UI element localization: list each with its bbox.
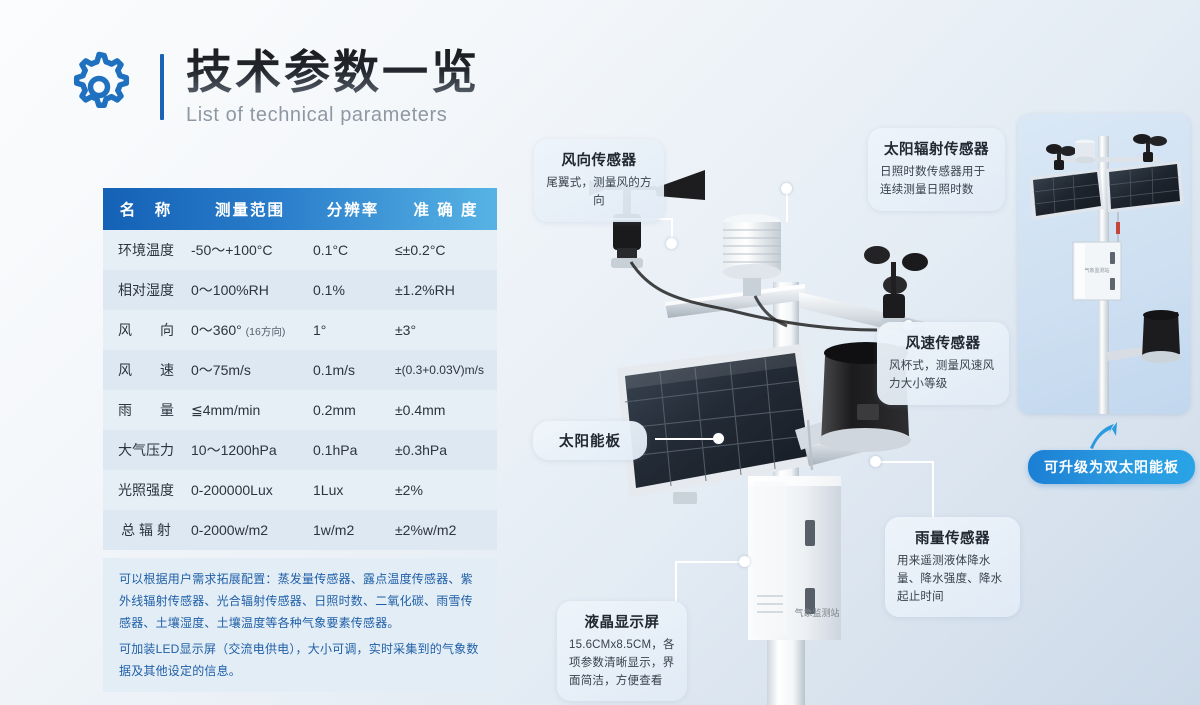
- callout-title: 太阳辐射传感器: [880, 138, 993, 159]
- cell-range: -50〜+100°C: [187, 230, 309, 270]
- cell-range: 0〜100%RH: [187, 270, 309, 310]
- cell-accuracy: ±3°: [393, 310, 497, 350]
- callout-title: 风向传感器: [546, 149, 652, 170]
- callout-wind-speed[interactable]: 风速传感器 风杯式，测量风速风力大小等级: [877, 322, 1009, 405]
- cell-accuracy: ±2%: [393, 470, 497, 510]
- note-led-display: 可加装LED显示屏（交流电供电），大小可调，实时采集到的气象数据及其他设定的信息…: [103, 628, 497, 692]
- cell-name: 风 速: [103, 350, 187, 390]
- svg-text:气象监测站: 气象监测站: [1084, 267, 1109, 274]
- cell-name: 相对湿度: [103, 270, 187, 310]
- cell-name: 光照强度: [103, 470, 187, 510]
- cell-resolution: 0.1°C: [309, 230, 393, 270]
- cell-accuracy: ±2%w/m2: [393, 510, 497, 550]
- table-header-row: 名 称 测量范围 分辨率 准 确 度: [103, 188, 497, 230]
- cell-accuracy: ±(0.3+0.03V)m/s: [393, 350, 497, 390]
- column-header-name: 名 称: [103, 188, 187, 230]
- column-header-range: 测量范围: [187, 188, 309, 230]
- connector-line: [875, 461, 933, 463]
- cell-range: 0-2000w/m2: [187, 510, 309, 550]
- callout-solar-radiation[interactable]: 太阳辐射传感器 日照时数传感器用于连续测量日照时数: [868, 128, 1005, 211]
- table-row: 风 向 0〜360° (16方向) 1° ±3°: [103, 310, 497, 350]
- connector-dot: [739, 556, 750, 567]
- cell-range-value: -50〜+100°C: [191, 242, 272, 258]
- page-title: 技术参数一览: [186, 48, 480, 98]
- callout-solar-panel[interactable]: 太阳能板: [533, 421, 647, 460]
- connector-dot: [666, 238, 677, 249]
- callout-desc: 尾翼式，测量风的方向: [546, 175, 652, 211]
- connector-line: [655, 438, 715, 440]
- cell-range: ≦4mm/min: [187, 390, 309, 430]
- column-header-accuracy: 准 确 度: [393, 188, 497, 230]
- connector-line: [675, 561, 677, 601]
- connector-line: [786, 191, 788, 222]
- cell-name: 总 辐 射: [103, 510, 187, 550]
- connector-dot: [781, 183, 792, 194]
- page-subtitle: List of technical parameters: [186, 104, 480, 127]
- cell-resolution: 1w/m2: [309, 510, 393, 550]
- callout-wind-direction[interactable]: 风向传感器 尾翼式，测量风的方向: [534, 139, 664, 222]
- callout-rain-gauge[interactable]: 雨量传感器 用来遥测液体降水量、降水强度、降水起止时间: [885, 517, 1020, 617]
- cell-range-value: 0〜75m/s: [191, 362, 251, 378]
- gear-icon: [62, 50, 136, 124]
- cell-resolution: 0.1m/s: [309, 350, 393, 390]
- table-row: 总 辐 射 0-2000w/m2 1w/m2 ±2%w/m2: [103, 510, 497, 550]
- connector-dot: [870, 456, 881, 467]
- callout-title: 雨量传感器: [897, 527, 1008, 548]
- cell-range-value: 10〜1200hPa: [191, 442, 277, 458]
- cell-resolution: 0.1hPa: [309, 430, 393, 470]
- callout-lcd-display[interactable]: 液晶显示屏 15.6CMx8.5CM，各项参数清晰显示，界面简洁，方便查看: [557, 601, 687, 701]
- callout-title: 液晶显示屏: [569, 611, 675, 632]
- cell-resolution: 0.1%: [309, 270, 393, 310]
- header-divider: [160, 54, 164, 120]
- callout-desc: 15.6CMx8.5CM，各项参数清晰显示，界面简洁，方便查看: [569, 637, 675, 690]
- page-header: 技术参数一览 List of technical parameters: [62, 48, 480, 127]
- cell-name: 大气压力: [103, 430, 187, 470]
- cell-range: 0-200000Lux: [187, 470, 309, 510]
- cell-range: 0〜360° (16方向): [187, 310, 309, 350]
- upgrade-badge[interactable]: 可升级为双太阳能板: [1028, 450, 1195, 484]
- cell-name: 环境温度: [103, 230, 187, 270]
- table-row: 风 速 0〜75m/s 0.1m/s ±(0.3+0.03V)m/s: [103, 350, 497, 390]
- callout-desc: 日照时数传感器用于连续测量日照时数: [880, 164, 993, 200]
- cell-accuracy: ≤±0.2°C: [393, 230, 497, 270]
- callout-desc: 用来遥测液体降水量、降水强度、降水起止时间: [897, 553, 1008, 606]
- cell-accuracy: ±0.3hPa: [393, 430, 497, 470]
- column-header-resolution: 分辨率: [309, 188, 393, 230]
- dual-solar-station-illustration: 气象监测站: [1018, 114, 1190, 414]
- cell-range-value: 0-200000Lux: [191, 482, 273, 498]
- callout-title: 风速传感器: [889, 332, 997, 353]
- dual-panel-inset: 气象监测站: [1018, 114, 1190, 414]
- table-row: 大气压力 10〜1200hPa 0.1hPa ±0.3hPa: [103, 430, 497, 470]
- table-row: 光照强度 0-200000Lux 1Lux ±2%: [103, 470, 497, 510]
- cell-accuracy: ±0.4mm: [393, 390, 497, 430]
- cell-range-value: 0〜100%RH: [191, 282, 269, 298]
- spec-table: 名 称 测量范围 分辨率 准 确 度 环境温度 -50〜+100°C 0.1°C…: [103, 188, 497, 550]
- table-row: 环境温度 -50〜+100°C 0.1°C ≤±0.2°C: [103, 230, 497, 270]
- cell-resolution: 1Lux: [309, 470, 393, 510]
- connector-line: [932, 461, 934, 519]
- callout-desc: 风杯式，测量风速风力大小等级: [889, 358, 997, 394]
- cell-range: 0〜75m/s: [187, 350, 309, 390]
- cell-resolution: 0.2mm: [309, 390, 393, 430]
- cell-range-note: (16方向): [246, 326, 286, 338]
- cell-name: 风 向: [103, 310, 187, 350]
- table-row: 雨 量 ≦4mm/min 0.2mm ±0.4mm: [103, 390, 497, 430]
- cell-resolution: 1°: [309, 310, 393, 350]
- cell-range-value: 0-2000w/m2: [191, 522, 268, 538]
- svg-text:气象监测站: 气象监测站: [794, 607, 839, 619]
- cell-range-value: ≦4mm/min: [191, 402, 260, 418]
- cell-accuracy: ±1.2%RH: [393, 270, 497, 310]
- cell-range: 10〜1200hPa: [187, 430, 309, 470]
- table-row: 相对湿度 0〜100%RH 0.1% ±1.2%RH: [103, 270, 497, 310]
- cell-range-value: 0〜360°: [191, 322, 242, 338]
- connector-line: [675, 561, 745, 563]
- cell-name: 雨 量: [103, 390, 187, 430]
